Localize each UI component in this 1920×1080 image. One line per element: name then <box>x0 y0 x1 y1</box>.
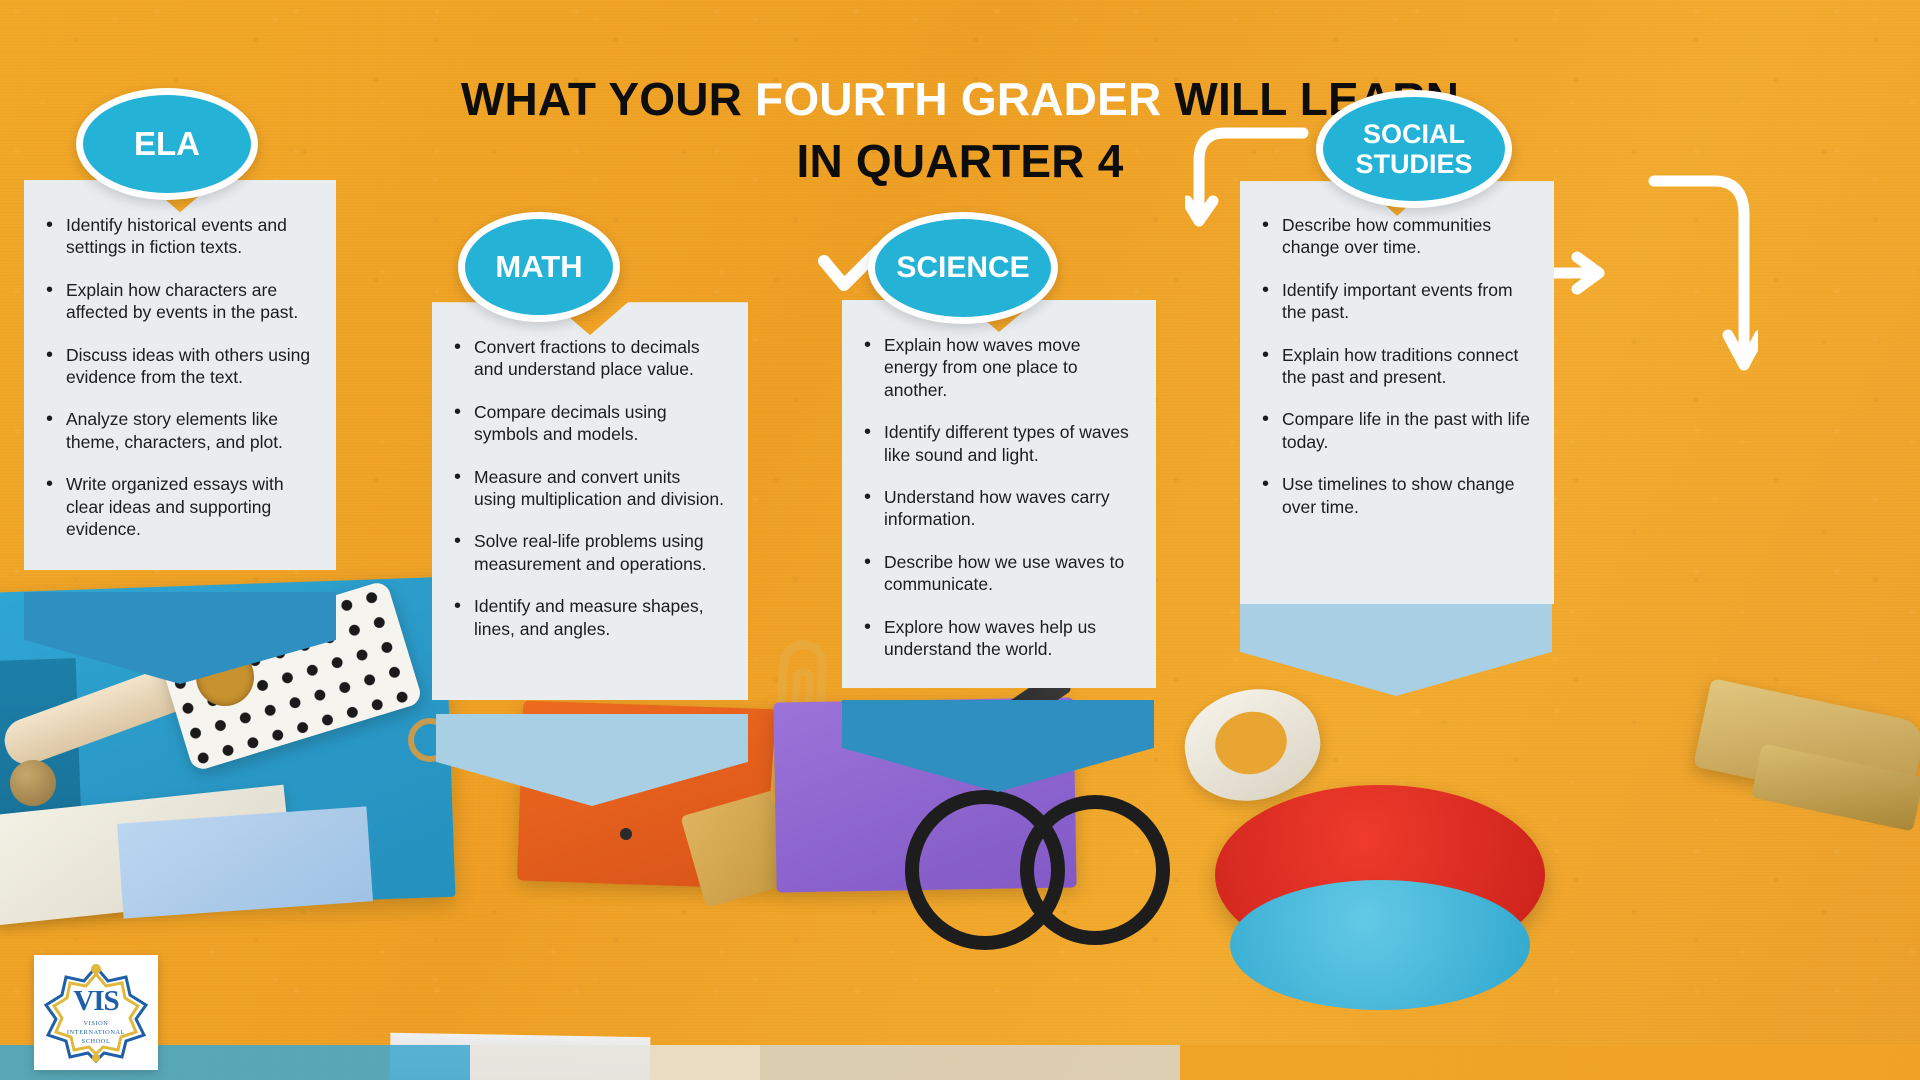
folder-button-prop <box>620 828 632 840</box>
subject-pill-science-label: SCIENCE <box>896 251 1029 285</box>
subject-pill-science[interactable]: SCIENCE <box>868 212 1058 324</box>
title-highlight: FOURTH GRADER <box>755 73 1161 125</box>
list-item: Write organized essays with clear ideas … <box>44 473 314 540</box>
subject-pill-math[interactable]: MATH <box>458 212 620 322</box>
list-item: Identify different types of waves like s… <box>862 421 1134 466</box>
list-item: Convert fractions to decimals and unders… <box>452 336 726 381</box>
desk-edge-strip-prop <box>0 1045 1920 1080</box>
subject-pill-social-studies-label: SOCIAL STUDIES <box>1323 119 1505 179</box>
scissors-handle-right-prop <box>1020 795 1170 945</box>
ela-bullet-list-container: Identify historical events and settings … <box>24 168 336 570</box>
list-item: Explain how traditions connect the past … <box>1260 344 1532 389</box>
list-item: Measure and convert units using multipli… <box>452 466 726 511</box>
title-line2: IN QUARTER 4 <box>797 135 1124 187</box>
logo-inner: VIS VISION INTERNATIONAL SCHOOL <box>42 963 150 1063</box>
gold-coin-prop <box>10 760 56 806</box>
list-item: Identify and measure shapes, lines, and … <box>452 595 726 640</box>
science-bullet-list-container: Explain how waves move energy from one p… <box>842 288 1156 690</box>
subject-pill-ela-label: ELA <box>134 126 200 163</box>
list-item: Use timelines to show change over time. <box>1260 473 1532 518</box>
social-studies-bullet-list-container: Describe how communities change over tim… <box>1240 168 1554 548</box>
cyan-disc-prop <box>1230 880 1530 1010</box>
math-bullet-list-container: Convert fractions to decimals and unders… <box>432 290 748 670</box>
list-item: Compare life in the past with life today… <box>1260 408 1532 453</box>
subject-pill-ela[interactable]: ELA <box>76 88 258 200</box>
list-item: Solve real-life problems using measureme… <box>452 530 726 575</box>
subject-pill-math-label: MATH <box>495 250 582 285</box>
science-bullet-list: Explain how waves move energy from one p… <box>862 334 1134 660</box>
logo-monogram: VIS <box>73 985 118 1018</box>
subject-card-ela: Identify historical events and settings … <box>24 168 336 570</box>
subject-card-social-studies: Describe how communities change over tim… <box>1240 168 1554 604</box>
logo-name-line1: VISION <box>67 1019 125 1028</box>
title-line1-part1: WHAT YOUR <box>461 73 755 125</box>
list-item: Describe how communities change over tim… <box>1260 214 1532 259</box>
list-item: Identify historical events and settings … <box>44 214 314 259</box>
logo-name-line2: INTERNATIONAL <box>67 1028 125 1037</box>
subject-card-science: Explain how waves move energy from one p… <box>842 288 1156 688</box>
list-item: Identify important events from the past. <box>1260 279 1532 324</box>
logo-name: VISION INTERNATIONAL SCHOOL <box>67 1019 125 1046</box>
list-item: Compare decimals using symbols and model… <box>452 401 726 446</box>
list-item: Analyze story elements like theme, chara… <box>44 408 314 453</box>
school-logo: VIS VISION INTERNATIONAL SCHOOL <box>34 955 158 1070</box>
blue-envelope-prop <box>117 806 373 918</box>
list-item: Explore how waves help us understand the… <box>862 616 1134 661</box>
list-item: Describe how we use waves to communicate… <box>862 551 1134 596</box>
math-bullet-list: Convert fractions to decimals and unders… <box>452 336 726 640</box>
list-item: Explain how waves move energy from one p… <box>862 334 1134 401</box>
logo-name-line3: SCHOOL <box>67 1037 125 1046</box>
list-item: Understand how waves carry information. <box>862 486 1134 531</box>
social-studies-bullet-list: Describe how communities change over tim… <box>1260 214 1532 518</box>
list-item: Discuss ideas with others using evidence… <box>44 344 314 389</box>
subject-card-math: Convert fractions to decimals and unders… <box>432 290 748 700</box>
list-item: Explain how characters are affected by e… <box>44 279 314 324</box>
ela-bullet-list: Identify historical events and settings … <box>44 214 314 540</box>
subject-pill-social-studies[interactable]: SOCIAL STUDIES <box>1316 90 1512 208</box>
